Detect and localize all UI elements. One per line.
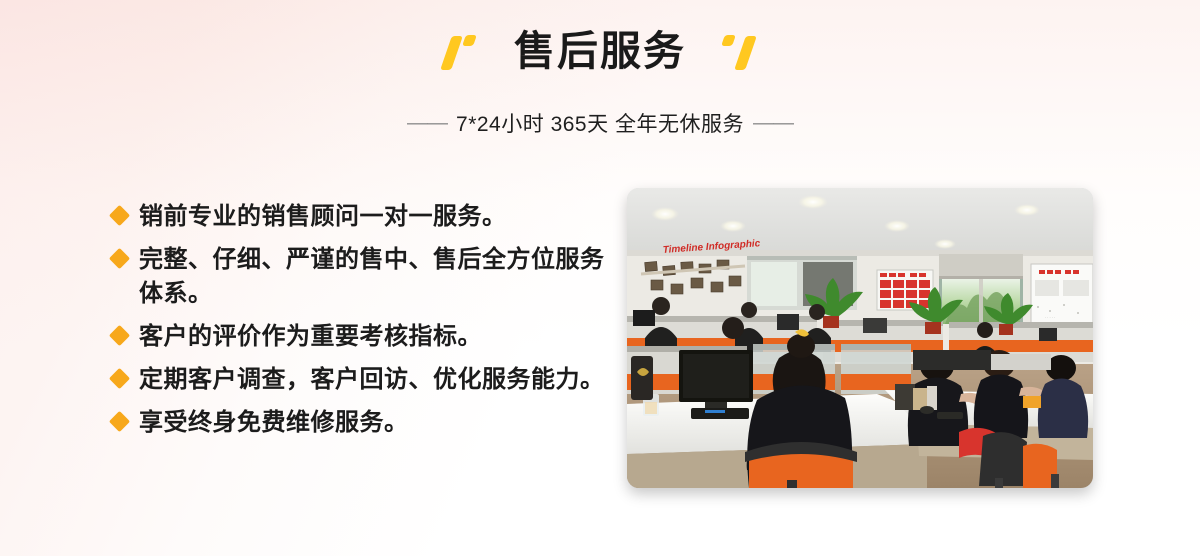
office-photo: Timeline Infographic bbox=[627, 188, 1093, 488]
diamond-bullet-icon bbox=[109, 368, 130, 389]
diamond-bullet-icon bbox=[109, 248, 130, 269]
svg-text:. . . . .: . . . . . bbox=[1045, 314, 1055, 319]
diamond-bullet-icon bbox=[109, 411, 130, 432]
promo-banner: 售后服务 —— 7*24小时 365天 全年无休服务 —— 销前专业的销售顾问一… bbox=[0, 0, 1200, 556]
list-item-label: 完整、仔细、严谨的售中、售后全方位服务体系。 bbox=[139, 243, 612, 311]
list-item: 完整、仔细、严谨的售中、售后全方位服务体系。 bbox=[112, 243, 612, 311]
service-feature-list: 销前专业的销售顾问一对一服务。 完整、仔细、严谨的售中、售后全方位服务体系。 客… bbox=[112, 200, 612, 449]
office-scene-illustration: Timeline Infographic bbox=[627, 188, 1093, 488]
list-item-label: 销前专业的销售顾问一对一服务。 bbox=[139, 200, 507, 234]
subtitle-row: —— 7*24小时 365天 全年无休服务 —— bbox=[0, 108, 1200, 138]
subtitle-dash-right: —— bbox=[753, 111, 793, 135]
office-photo-image: Timeline Infographic bbox=[627, 188, 1093, 488]
page-title: 售后服务 bbox=[514, 31, 686, 72]
list-item-label: 定期客户调查，客户回访、优化服务能力。 bbox=[139, 363, 605, 397]
diamond-bullet-icon bbox=[109, 205, 130, 226]
diamond-bullet-icon bbox=[109, 325, 130, 346]
list-item: 定期客户调查，客户回访、优化服务能力。 bbox=[112, 363, 612, 397]
list-item: 享受终身免费维修服务。 bbox=[112, 406, 612, 440]
content-area: 销前专业的销售顾问一对一服务。 完整、仔细、严谨的售中、售后全方位服务体系。 客… bbox=[0, 180, 1200, 500]
subtitle-text: 7*24小时 365天 全年无休服务 bbox=[447, 108, 753, 138]
list-item: 客户的评价作为重要考核指标。 bbox=[112, 320, 612, 354]
title-row: 售后服务 bbox=[0, 20, 1200, 82]
list-item-label: 享受终身免费维修服务。 bbox=[139, 406, 409, 440]
quote-decoration-right-icon bbox=[716, 31, 760, 71]
subtitle-dash-left: —— bbox=[407, 111, 447, 135]
quote-decoration-left-icon bbox=[440, 31, 484, 71]
list-item-label: 客户的评价作为重要考核指标。 bbox=[139, 320, 482, 354]
header: 售后服务 —— 7*24小时 365天 全年无休服务 —— bbox=[0, 0, 1200, 138]
list-item: 销前专业的销售顾问一对一服务。 bbox=[112, 200, 612, 234]
